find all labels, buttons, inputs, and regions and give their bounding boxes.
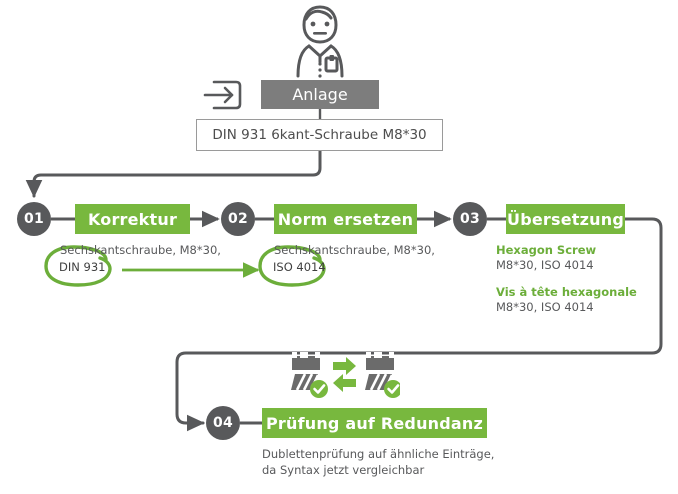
compare-arrows-icon <box>333 357 356 392</box>
step-04-label[interactable]: Prüfung auf Redundanz <box>262 408 487 438</box>
step-01-label[interactable]: Korrektur <box>75 204 190 234</box>
step-02-oval-label: ISO 4014 <box>273 260 326 274</box>
step-01-oval-label: DIN 931 <box>59 260 105 274</box>
translation-term-en: Hexagon Screw <box>496 243 596 257</box>
step-03-translation-1: Hexagon Screw M8*30, ISO 4014 <box>496 243 596 273</box>
person-icon <box>282 2 358 78</box>
step-02-number: 02 <box>221 202 255 236</box>
step-01-number: 01 <box>17 202 51 236</box>
step-03-number: 03 <box>453 202 487 236</box>
step-03-translation-2: Vis à tête hexagonale M8*30, ISO 4014 <box>496 285 637 315</box>
step-02-caption: Sechskantschraube, M8*30, <box>274 243 435 258</box>
flow-diagram: Anlage DIN 931 6kant-Schraube M8*30 01 K… <box>0 0 678 494</box>
translation-detail-fr: M8*30, ISO 4014 <box>496 300 594 314</box>
translation-detail-en: M8*30, ISO 4014 <box>496 258 594 272</box>
step-04-number: 04 <box>206 406 240 440</box>
step-01-caption: Sechskantschraube, M8*30, <box>60 243 221 258</box>
translation-term-fr: Vis à tête hexagonale <box>496 285 637 299</box>
compare-screws-graphic <box>288 352 400 400</box>
input-value-box[interactable]: DIN 931 6kant-Schraube M8*30 <box>196 119 443 151</box>
login-arrow-icon[interactable] <box>200 74 244 114</box>
check-badge-left <box>310 380 328 398</box>
entity-anlage-box: Anlage <box>261 80 379 109</box>
step-04-caption-line-1: Dublettenprüfung auf ähnliche Einträge, <box>262 447 494 462</box>
step-02-label[interactable]: Norm ersetzen <box>274 204 417 234</box>
step-04-caption-line-2: da Syntax jetzt vergleichbar <box>262 463 424 478</box>
step-03-label[interactable]: Übersetzung <box>506 204 625 234</box>
